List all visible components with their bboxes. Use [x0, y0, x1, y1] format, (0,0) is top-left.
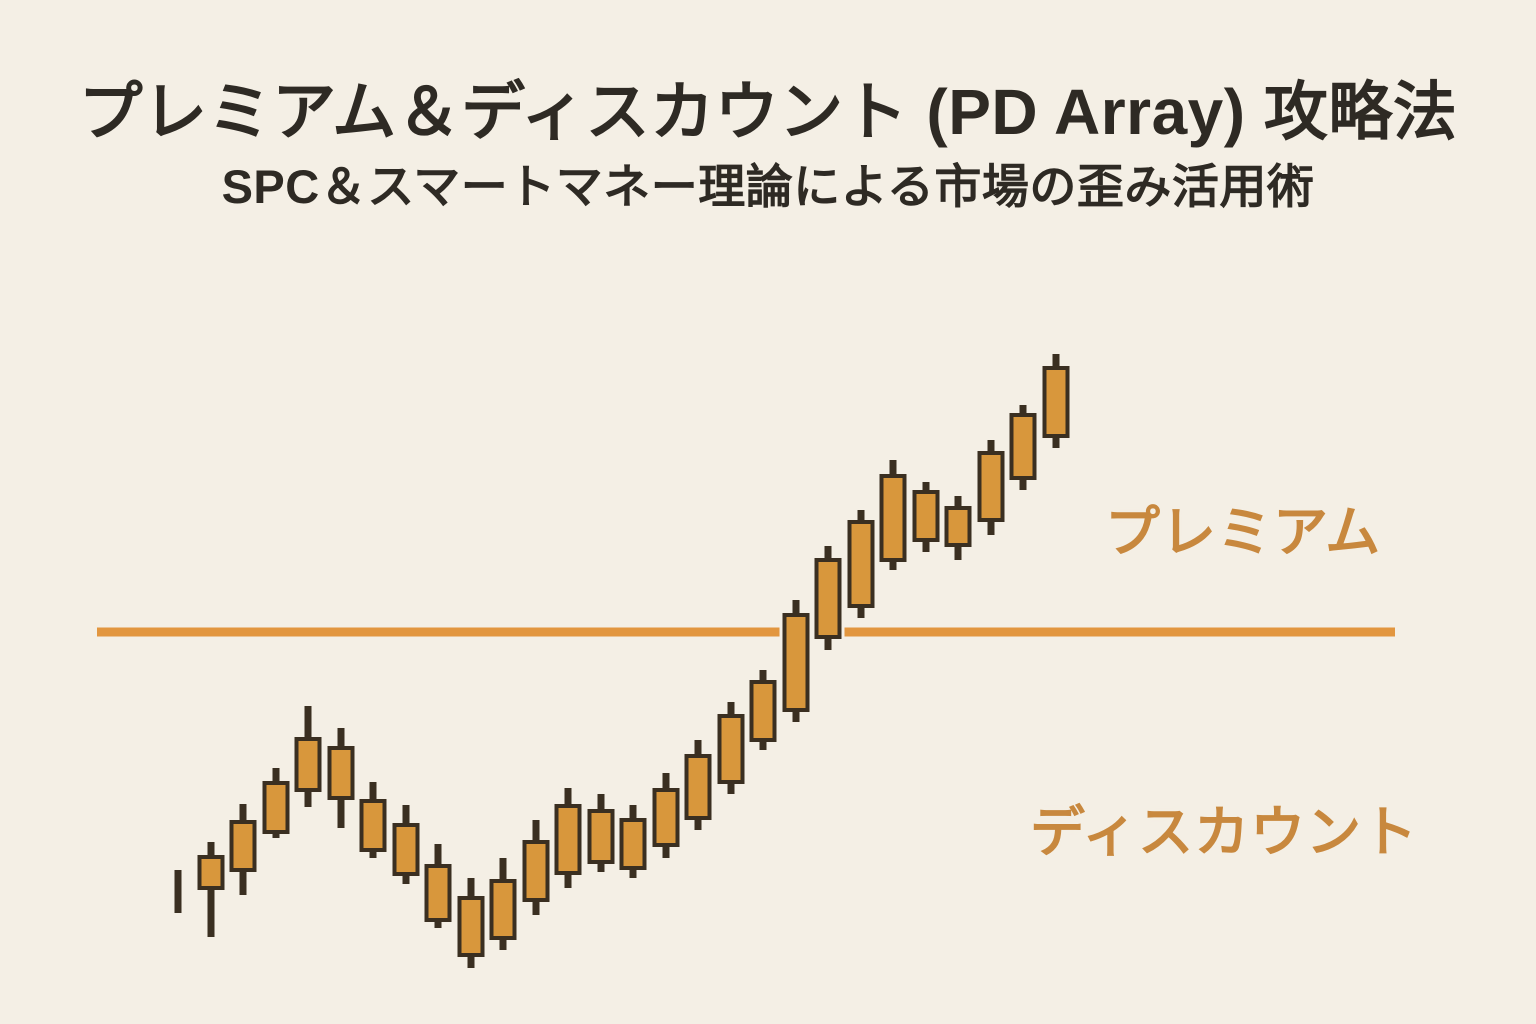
- candlestick: [585, 791, 618, 875]
- candlestick: [455, 875, 488, 971]
- equilibrium-line-group: [94, 625, 1398, 640]
- candlestick: [617, 802, 650, 881]
- candlestick: [325, 725, 358, 831]
- candle-body: [947, 508, 970, 545]
- candlestick: [812, 543, 845, 653]
- candlestick: [780, 597, 813, 725]
- equilibrium-line: [97, 628, 1395, 637]
- candle-body: [297, 739, 320, 790]
- candle-body: [590, 811, 613, 862]
- candle-body: [492, 881, 515, 938]
- candlestick: [975, 437, 1008, 538]
- candlestick: [942, 493, 975, 563]
- candlestick: [520, 817, 553, 918]
- candlestick: [487, 855, 520, 953]
- candle-body: [330, 748, 353, 798]
- candle-body: [720, 716, 743, 782]
- candle-body: [232, 822, 255, 870]
- candle-body: [557, 806, 580, 873]
- candle-body: [395, 825, 418, 874]
- candlestick: [260, 765, 293, 841]
- discount-zone-label: ディスカウント: [1030, 787, 1418, 867]
- candlestick: [162, 867, 195, 916]
- candle-body: [265, 783, 288, 832]
- candlestick-series: [162, 351, 1073, 971]
- candlestick: [910, 479, 943, 555]
- premium-zone-label: プレミアム: [1105, 487, 1381, 567]
- candlestick: [682, 737, 715, 833]
- candlestick: [357, 779, 390, 861]
- candle-body: [882, 476, 905, 560]
- candle-body: [980, 453, 1003, 520]
- candlestick: [227, 801, 260, 898]
- candlestick: [422, 841, 455, 931]
- candlestick: [747, 667, 780, 753]
- candle-body: [622, 820, 645, 868]
- candle-body: [200, 857, 223, 888]
- candle-body: [915, 492, 938, 540]
- candlestick: [1007, 402, 1040, 493]
- candlestick: [845, 507, 878, 621]
- candle-body: [1045, 368, 1068, 436]
- candle-body: [1012, 415, 1035, 478]
- candle-wick: [175, 870, 182, 913]
- candlestick: [715, 699, 748, 797]
- candle-body: [460, 898, 483, 955]
- candle-body: [525, 842, 548, 900]
- candlestick: [195, 839, 228, 940]
- candle-body: [427, 866, 450, 920]
- candle-body: [850, 522, 873, 606]
- candle-body: [655, 790, 678, 845]
- candlestick: [390, 802, 423, 887]
- candle-body: [752, 682, 775, 740]
- candlestick: [552, 785, 585, 891]
- poster-canvas: プレミアム＆ディスカウント (PD Array) 攻略法 SPC＆スマートマネー…: [0, 0, 1536, 1024]
- candle-body: [817, 560, 840, 637]
- candle-body: [785, 615, 808, 710]
- candlestick: [877, 457, 910, 573]
- candlestick: [650, 770, 683, 861]
- candlestick: [292, 703, 325, 810]
- candlestick: [1040, 351, 1073, 451]
- candle-body: [687, 756, 710, 818]
- candle-body: [362, 801, 385, 850]
